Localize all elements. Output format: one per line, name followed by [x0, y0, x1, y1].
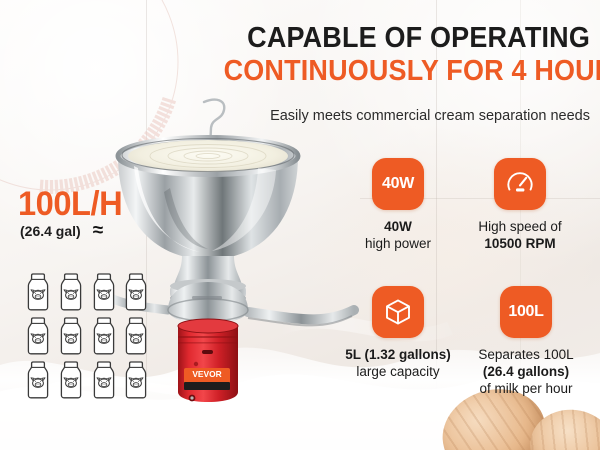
feature-separates-line-2: (26.4 gallons)	[456, 363, 596, 380]
milk-bottle-icon	[122, 316, 150, 356]
headline-line-1: CAPABLE OF OPERATING	[224, 22, 590, 54]
feature-capacity-label: 5L (1.32 gallons) large capacity	[330, 346, 466, 380]
milk-bottle-grid	[24, 272, 152, 400]
headline-line-2: CONTINUOUSLY FOR 4 HOURS	[224, 54, 590, 88]
feature-separates: 100L Separates 100L (26.4 gallons) of mi…	[456, 286, 596, 397]
milk-bottle-icon	[57, 272, 85, 312]
approximately-equal-icon: ≈	[93, 224, 103, 238]
feature-speed-line-1: High speed of	[452, 218, 588, 235]
feature-speed-label: High speed of 10500 RPM	[452, 218, 588, 252]
promo-banner: VEVOR CAPABLE OF OPERATING CONTINUOUSLY …	[0, 0, 600, 450]
feature-capacity: 5L (1.32 gallons) large capacity	[330, 286, 466, 380]
feature-separates-line-3: of milk per hour	[456, 380, 596, 397]
feature-speed: High speed of 10500 RPM	[452, 158, 588, 252]
milk-bottle-icon	[122, 272, 150, 312]
feature-capacity-line-2: large capacity	[330, 363, 466, 380]
milk-bottle-icon	[57, 360, 85, 400]
feature-speed-line-2: 10500 RPM	[452, 235, 588, 252]
speedometer-icon	[505, 169, 535, 199]
headline: CAPABLE OF OPERATING CONTINUOUSLY FOR 4 …	[196, 22, 590, 88]
capacity-badge	[372, 286, 424, 338]
milk-bottle-icon	[24, 316, 52, 356]
milk-bottle-icon	[57, 316, 85, 356]
capacity-rate-gallons: (26.4 gal)	[20, 223, 81, 239]
milk-bottle-icon	[90, 360, 118, 400]
power-badge: 40W	[372, 158, 424, 210]
milk-bottle-icon	[90, 272, 118, 312]
separates-badge-text: 100L	[508, 303, 543, 321]
headline-subtitle: Easily meets commercial cream separation…	[190, 108, 590, 124]
milk-bottle-icon	[90, 316, 118, 356]
cube-box-icon	[383, 297, 413, 327]
feature-power-line-1: 40W	[352, 218, 444, 235]
svg-text:VEVOR: VEVOR	[192, 369, 221, 379]
separates-badge: 100L	[500, 286, 552, 338]
milk-bottle-icon	[24, 360, 52, 400]
power-badge-text: 40W	[382, 175, 414, 193]
milk-bottle-icon	[122, 360, 150, 400]
milk-bottle-icon	[24, 272, 52, 312]
feature-separates-line-1: Separates 100L	[456, 346, 596, 363]
feature-separates-label: Separates 100L (26.4 gallons) of milk pe…	[456, 346, 596, 397]
capacity-rate: 100L/H	[18, 186, 122, 222]
capacity-panel: 100L/H (26.4 gal) ≈	[0, 186, 152, 239]
feature-power: 40W 40W high power	[352, 158, 444, 252]
feature-capacity-line-1: 5L (1.32 gallons)	[330, 346, 466, 363]
feature-power-line-2: high power	[352, 235, 444, 252]
speed-badge	[494, 158, 546, 210]
feature-power-label: 40W high power	[352, 218, 444, 252]
